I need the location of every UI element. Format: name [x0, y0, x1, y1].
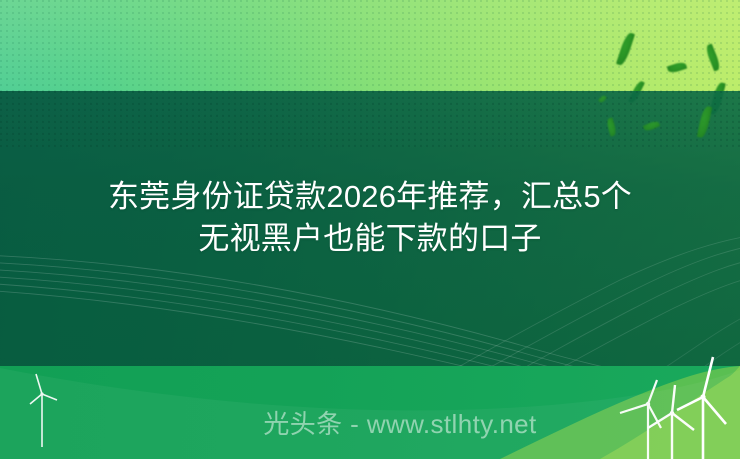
leaf-icon [697, 105, 712, 138]
leaf-icon [643, 120, 660, 133]
leaf-icon [709, 81, 726, 115]
site-watermark: 光头条 - www.stlhty.net [0, 407, 740, 441]
leaf-icon [616, 31, 635, 66]
leaf-icon [606, 117, 618, 136]
title-line-1: 东莞身份证贷款2026年推荐，汇总5个 [0, 176, 740, 218]
leaf-icon [598, 94, 607, 103]
promotional-banner: 东莞身份证贷款2026年推荐，汇总5个 无视黑户也能下款的口子 光头条 - ww… [0, 0, 740, 459]
dot-texture-dark-overlay [0, 91, 740, 151]
dot-texture-overlay [0, 0, 740, 150]
banner-title: 东莞身份证贷款2026年推荐，汇总5个 无视黑户也能下款的口子 [0, 176, 740, 260]
leaf-icon [628, 80, 645, 105]
title-line-2: 无视黑户也能下款的口子 [0, 218, 740, 260]
leaf-icon [667, 61, 688, 74]
leaf-icon [704, 43, 722, 71]
